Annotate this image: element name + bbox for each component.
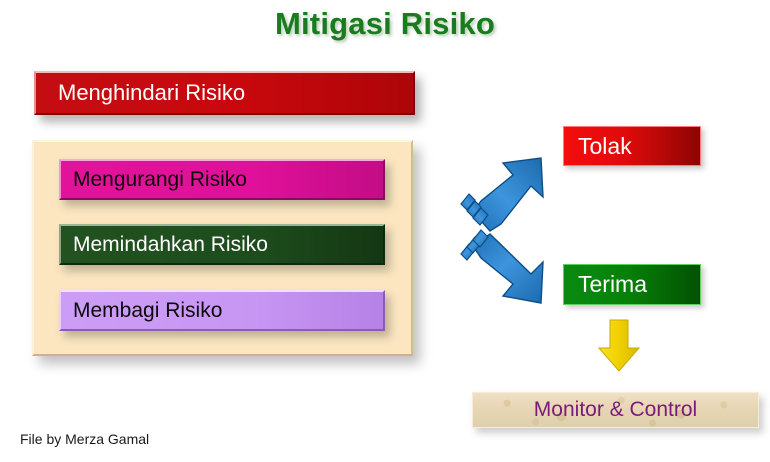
arrow-down-right-icon	[455, 228, 565, 313]
arrow-down-icon	[596, 318, 642, 374]
page-title: Mitigasi Risiko	[0, 6, 770, 42]
reduce-risk-box[interactable]: Mengurangi Risiko	[59, 159, 385, 200]
accept-label: Terima	[578, 271, 700, 298]
credit-text: File by Merza Gamal	[20, 431, 149, 447]
arrow-up-right-icon	[455, 152, 565, 232]
transfer-risk-box[interactable]: Memindahkan Risiko	[59, 224, 385, 265]
reduce-risk-label: Mengurangi Risiko	[73, 168, 247, 192]
share-risk-label: Membagi Risiko	[73, 299, 222, 323]
reject-box[interactable]: Tolak	[563, 126, 701, 166]
transfer-risk-label: Memindahkan Risiko	[73, 233, 268, 257]
monitor-control-box[interactable]: Monitor & Control	[472, 392, 759, 428]
reject-label: Tolak	[578, 133, 700, 160]
share-risk-box[interactable]: Membagi Risiko	[59, 290, 385, 331]
accept-box[interactable]: Terima	[563, 264, 701, 305]
avoid-risk-label: Menghindari Risiko	[58, 80, 413, 106]
risk-treatment-panel: Mengurangi Risiko Memindahkan Risiko Mem…	[32, 140, 413, 356]
monitor-control-label: Monitor & Control	[534, 398, 697, 422]
avoid-risk-box[interactable]: Menghindari Risiko	[34, 71, 415, 115]
